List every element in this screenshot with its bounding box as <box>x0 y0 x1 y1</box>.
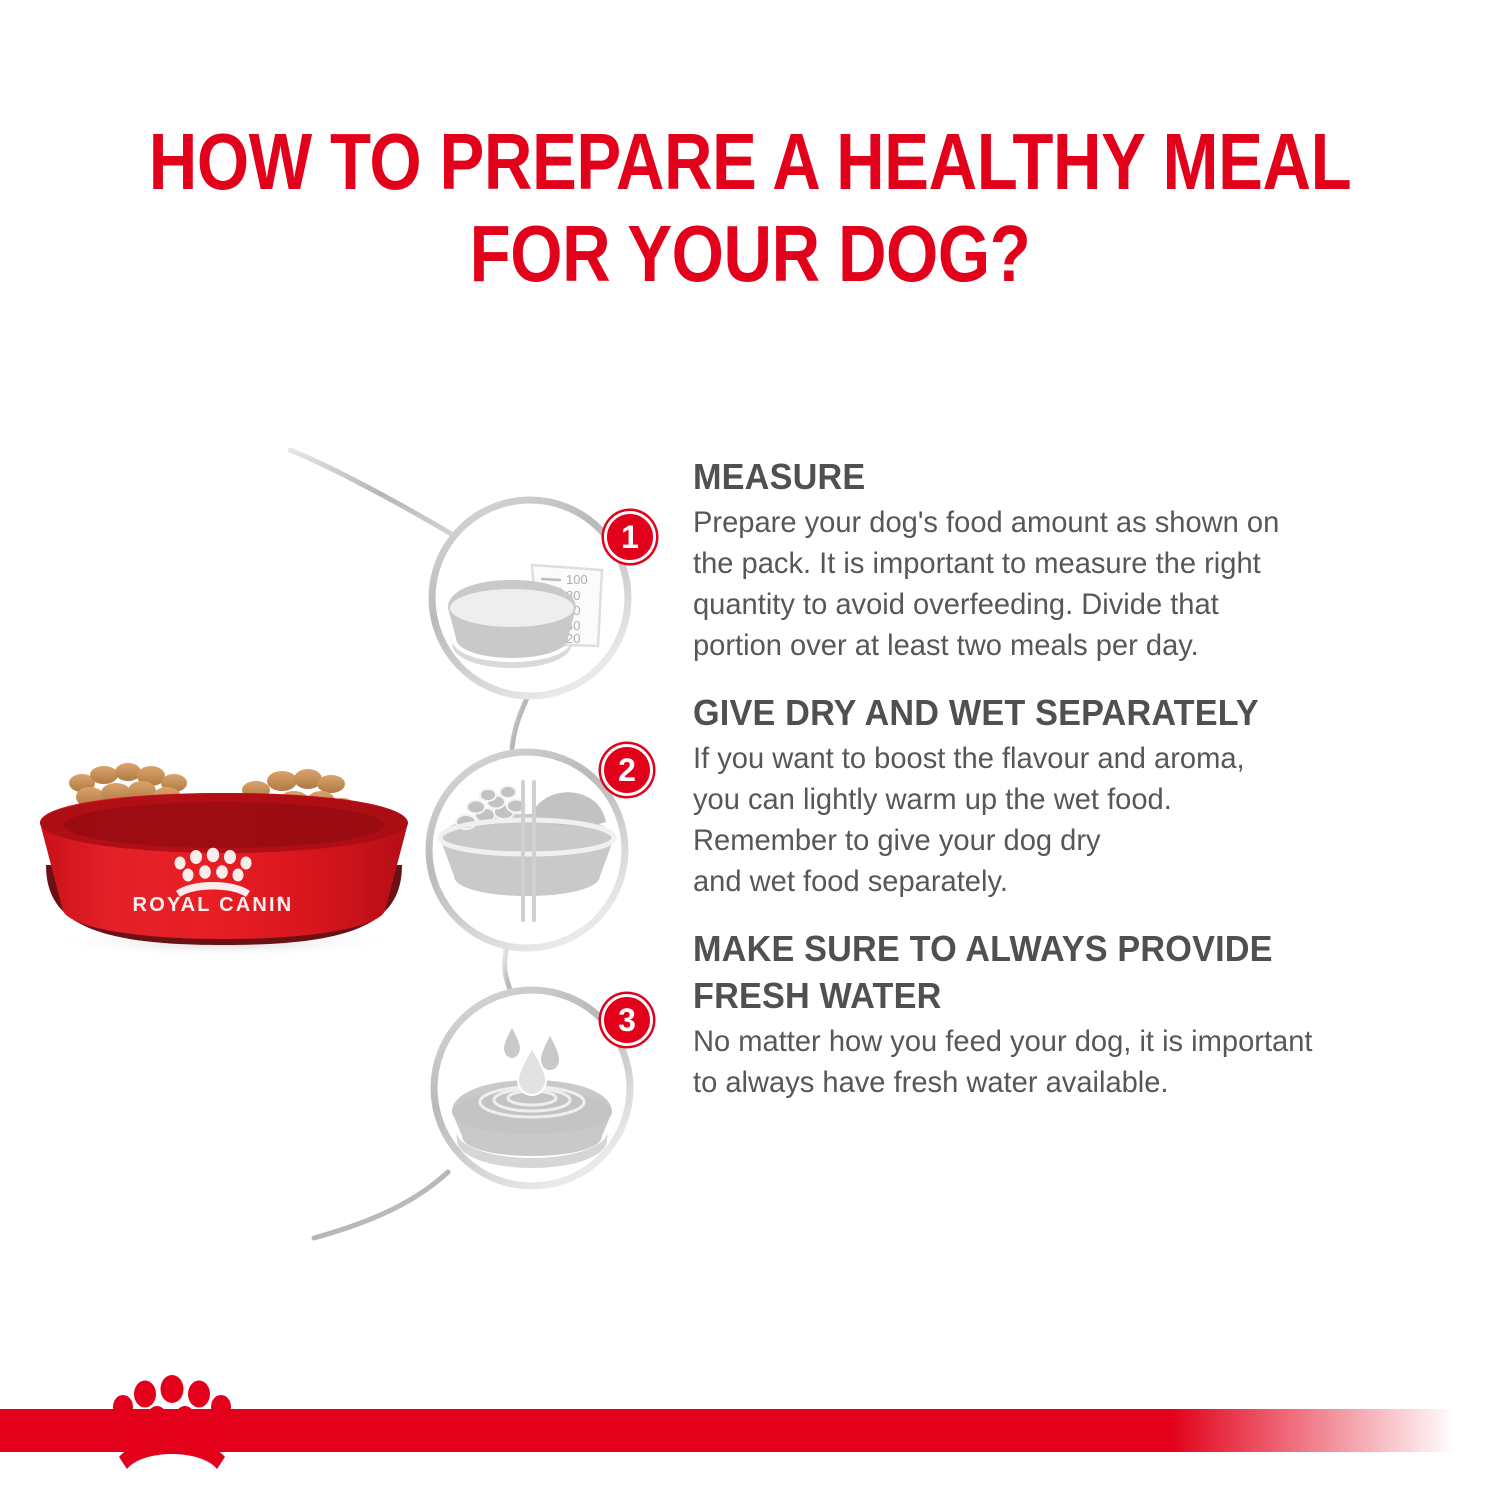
connector-line-bottom <box>314 1172 448 1238</box>
bowl-logo-text: ROYAL CANIN <box>133 894 294 916</box>
step-number-badge-1: 1 <box>604 511 656 563</box>
step-2-heading: GIVE DRY AND WET SEPARATELY <box>693 691 1444 734</box>
step-2-body-line-3: Remember to give your dog dry <box>693 820 1459 861</box>
step-3-body-line-1: No matter how you feed your dog, it is i… <box>693 1021 1459 1062</box>
connector-line-1-2 <box>512 698 527 748</box>
connector-line-top <box>290 450 465 542</box>
step-1-body: Prepare your dog's food amount as shown … <box>693 502 1459 666</box>
step-3-heading-line-1: MAKE SURE TO ALWAYS PROVIDE <box>693 927 1444 970</box>
step-2-circle <box>429 752 625 948</box>
steps-text-column: MEASURE Prepare your dog's food amount a… <box>693 455 1483 1123</box>
page-title-line-2: FOR YOUR DOG? <box>120 208 1380 300</box>
page-title: HOW TO PREPARE A HEALTHY MEAL FOR YOUR D… <box>0 116 1500 300</box>
step-1-text: MEASURE Prepare your dog's food amount a… <box>693 455 1483 666</box>
step-1-body-line-1: Prepare your dog's food amount as shown … <box>693 502 1459 543</box>
step-1-body-line-3: quantity to avoid overfeeding. Divide th… <box>693 584 1459 625</box>
infographic-page: HOW TO PREPARE A HEALTHY MEAL FOR YOUR D… <box>0 0 1500 1500</box>
step-2-body-line-1: If you want to boost the flavour and aro… <box>693 738 1459 779</box>
empty-bowl-icon <box>448 580 576 668</box>
step-1-body-line-2: the pack. It is important to measure the… <box>693 543 1459 584</box>
step-1-heading: MEASURE <box>693 455 1444 498</box>
step-3-body-line-2: to always have fresh water available. <box>693 1062 1459 1103</box>
step-2-text: GIVE DRY AND WET SEPARATELY If you want … <box>693 691 1483 902</box>
step-1-circle: 100 80 60 40 20 <box>432 500 628 696</box>
step-2-body-line-2: you can lightly warm up the wet food. <box>693 779 1459 820</box>
royal-canin-crown-logo-footer <box>105 1369 240 1473</box>
step-2-body: If you want to boost the flavour and aro… <box>693 738 1459 902</box>
cup-scale-100: 100 <box>566 572 588 587</box>
step-1-body-line-4: portion over at least two meals per day. <box>693 625 1459 666</box>
step-number-badge-2: 2 <box>601 744 653 796</box>
step-number-badge-3: 3 <box>601 994 653 1046</box>
step-3-body: No matter how you feed your dog, it is i… <box>693 1021 1459 1103</box>
step-3-heading-line-2: FRESH WATER <box>693 974 1444 1017</box>
step-2-body-line-4: and wet food separately. <box>693 861 1459 902</box>
page-title-line-1: HOW TO PREPARE A HEALTHY MEAL <box>120 116 1380 208</box>
step-3-text: MAKE SURE TO ALWAYS PROVIDE FRESH WATER … <box>693 927 1483 1103</box>
